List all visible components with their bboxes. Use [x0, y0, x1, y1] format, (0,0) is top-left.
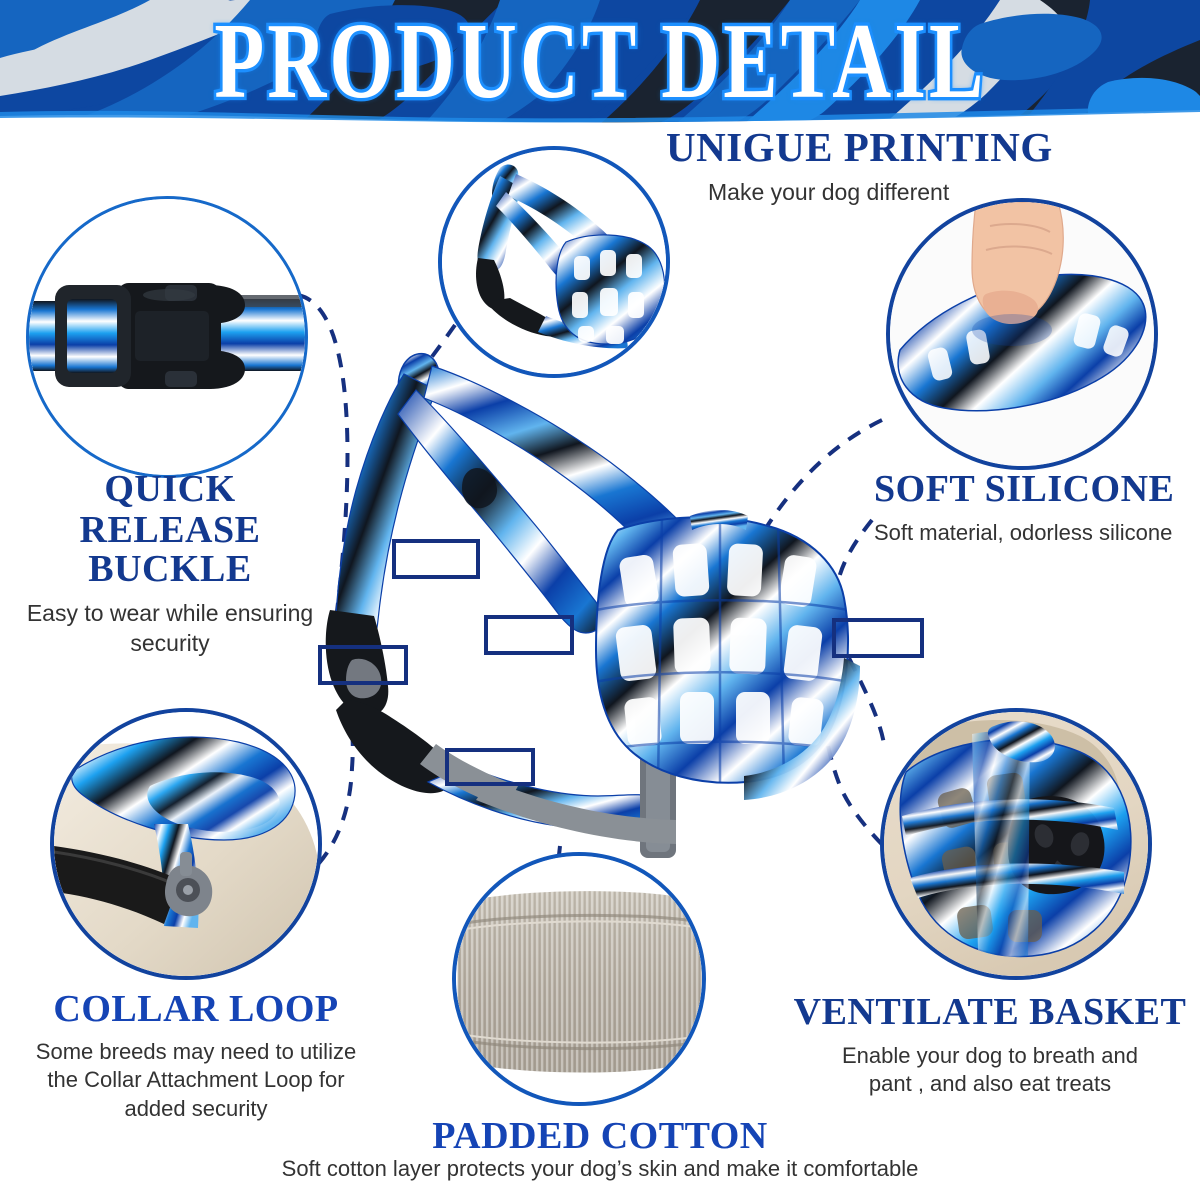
photo-ventilate-basket-inner [884, 712, 1148, 976]
feature-soft-silicone: SOFT SILICONE Soft material, odorless si… [860, 470, 1200, 547]
feature-unique-printing-title: UNIGUE PRINTING [666, 127, 1066, 169]
feature-collar-loop-desc-line1: Some breeds may need to utilize [0, 1038, 392, 1067]
feature-quick-release-buckle-desc-line2: security [0, 629, 340, 659]
feature-quick-release-buckle-title-line1: QUICK [0, 470, 340, 509]
feature-collar-loop: COLLAR LOOP Some breeds may need to util… [0, 990, 392, 1124]
photo-padded-cotton [452, 852, 706, 1106]
muzzle-illustration [300, 330, 920, 870]
feature-padded-cotton-desc: Soft cotton layer protects your dog’s sk… [180, 1155, 1020, 1184]
feature-quick-release-buckle-desc-line1: Easy to wear while ensuring [0, 599, 340, 629]
feature-quick-release-buckle-title-line2: RELEASE BUCKLE [0, 511, 340, 589]
feature-padded-cotton-desc-wrap: Soft cotton layer protects your dog’s sk… [180, 1155, 1020, 1184]
highlight-collar-loop [445, 748, 535, 786]
feature-soft-silicone-desc: Soft material, odorless silicone [860, 519, 1200, 548]
highlight-silicone-basket [392, 539, 480, 579]
highlight-basket-side [832, 618, 924, 658]
cotton-padding-illustration [456, 856, 702, 1102]
finger-press-silicone-illustration [890, 202, 1154, 466]
feature-ventilate-basket-desc-line1: Enable your dog to breath and [780, 1042, 1200, 1071]
feature-unique-printing: UNIGUE PRINTING Make your dog different [666, 127, 1066, 208]
highlight-padded-strap [484, 615, 574, 655]
page-title-text: PRODUCT DETAIL [214, 8, 986, 116]
photo-ventilate-basket [880, 708, 1152, 980]
feature-ventilate-basket-title: VENTILATE BASKET [780, 993, 1200, 1032]
feature-collar-loop-title: COLLAR LOOP [0, 990, 392, 1029]
buckle-illustration [29, 199, 305, 475]
photo-soft-silicone-inner [890, 202, 1154, 466]
photo-soft-silicone [886, 198, 1158, 470]
feature-quick-release-buckle: QUICK RELEASE BUCKLE Easy to wear while … [0, 470, 340, 659]
feature-padded-cotton: PADDED COTTON [300, 1117, 900, 1156]
feature-ventilate-basket: VENTILATE BASKET Enable your dog to brea… [780, 993, 1200, 1099]
photo-collar-loop-inner [54, 712, 318, 976]
photo-collar-loop [50, 708, 322, 980]
photo-padded-cotton-inner [456, 856, 702, 1102]
feature-collar-loop-desc-line2: the Collar Attachment Loop for [0, 1066, 392, 1095]
feature-padded-cotton-title: PADDED COTTON [300, 1117, 900, 1156]
page-title: PRODUCT DETAIL [0, 0, 1200, 124]
dog-wearing-muzzle-illustration [884, 712, 1148, 976]
full-muzzle-illustration [442, 150, 666, 374]
main-product-photo [300, 330, 920, 870]
photo-unique-printing-inner [442, 150, 666, 374]
header-banner: PRODUCT DETAIL [0, 0, 1200, 124]
photo-quick-release-buckle [26, 196, 308, 478]
feature-soft-silicone-title: SOFT SILICONE [860, 470, 1200, 509]
feature-ventilate-basket-desc-line2: pant , and also eat treats [780, 1070, 1200, 1099]
photo-unique-printing [438, 146, 670, 378]
dog-neck-collar-illustration [54, 712, 318, 976]
feature-unique-printing-desc: Make your dog different [708, 178, 1066, 208]
photo-quick-release-buckle-inner [29, 199, 305, 475]
